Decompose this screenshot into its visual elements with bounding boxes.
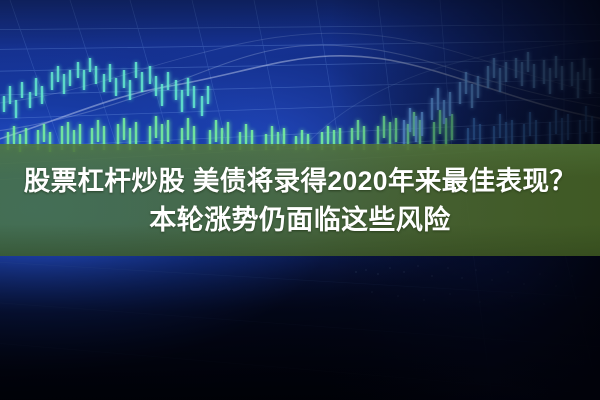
headline-line-2: 本轮涨势仍面临这些风险 [149,202,450,238]
headline-line-1: 股票杠杆炒股 美债将录得2020年来最佳表现？ [24,163,577,199]
headline-block: 股票杠杆炒股 美债将录得2020年来最佳表现？ 本轮涨势仍面临这些风险 [0,144,600,256]
news-banner: 股票杠杆炒股 美债将录得2020年来最佳表现？ 本轮涨势仍面临这些风险 [0,0,600,400]
